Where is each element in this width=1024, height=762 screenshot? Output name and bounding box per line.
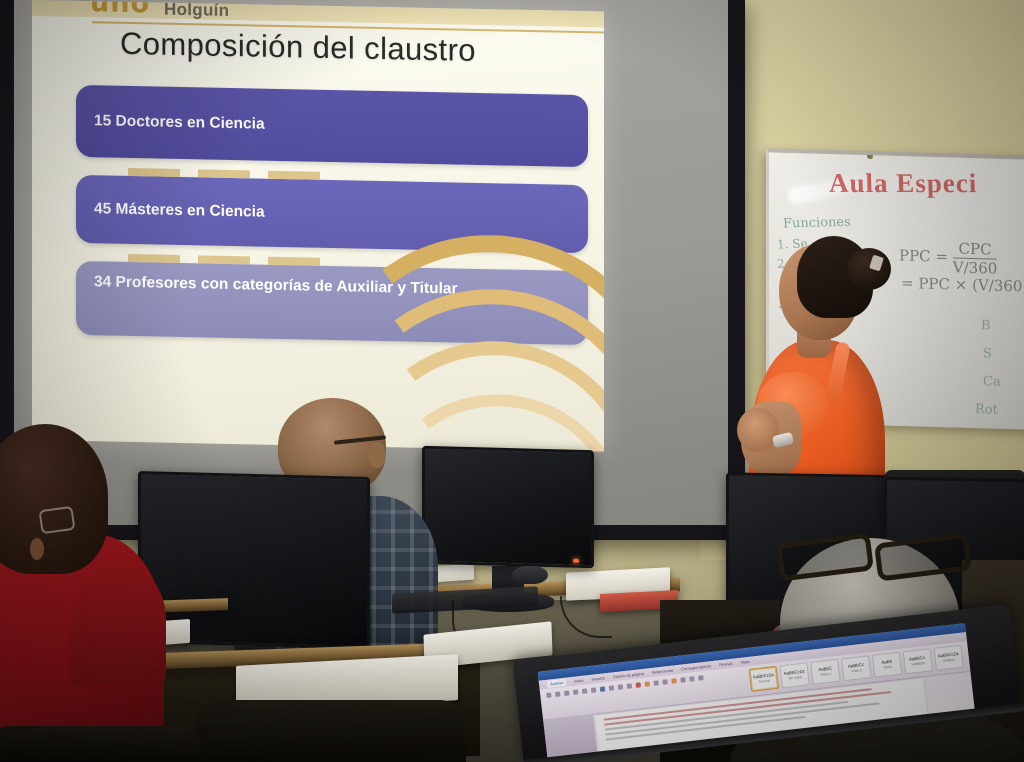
classroom-photo-scene: uho Holguín Composición del claustro 15 … [0,0,1024,762]
slide-bullet-2-text: 45 Másteres en Ciencia [94,200,265,222]
whiteboard-formula-1-numerator: CPC [953,239,998,259]
style-sin-espaciado-name: Sin espa [788,676,802,681]
word-tab-revisar[interactable]: Revisar [719,661,733,668]
monitor-power-led [573,559,579,563]
word-tab-vista[interactable]: Vista [740,659,749,665]
clipboard-icon[interactable] [582,688,588,694]
style-titulo-name: Título [883,665,892,669]
style-enfasis-name: Énfasis [943,658,954,663]
borders-icon[interactable] [680,677,686,683]
paste-icon[interactable] [591,687,597,693]
foreground-dark-mass-2 [0,726,200,762]
style-titulo-1-name: Título 1 [820,672,832,677]
font-color-icon[interactable] [636,682,642,688]
style-normal-name: Normal [759,679,770,684]
style-enfasis[interactable]: AaBbCcDc Énfasis [933,645,963,671]
foreground-dark-mass-1 [196,700,466,762]
font-size-icon[interactable] [573,689,579,695]
woman-red-ear [30,538,44,560]
style-titulo-2-name: Título 2 [851,669,863,674]
word-tab-insertar[interactable]: Insertar [591,675,605,682]
bullet-list-icon[interactable] [627,683,633,689]
presenter-hair-bun [847,248,891,290]
university-logo: uho Holguín [90,0,229,19]
whiteboard-right-item-1: B [981,318,991,333]
woman-red-glasses [38,506,75,534]
slide-bullet-2: 45 Másteres en Ciencia [76,175,588,253]
word-tab-inicio[interactable]: Inicio [574,678,584,684]
style-titulo[interactable]: AaBb Título [872,652,902,678]
presentation-slide: uho Holguín Composición del claustro 15 … [32,0,604,451]
whiteboard-screw [867,153,873,159]
grey-man-glasses [772,538,972,578]
show-marks-icon[interactable] [698,675,704,681]
logo-text: Holguín [164,1,229,19]
font-italic-icon[interactable] [555,691,561,697]
whiteboard-title: Aula Especi [829,168,978,199]
logo-mark: uho [90,0,150,17]
slide-bullet-3: 34 Profesores con categorías de Auxiliar… [76,261,588,345]
style-titulo-1[interactable]: AaBbC Título 1 [810,659,840,685]
red-top-shoulder [70,566,166,686]
whiteboard-right-item-2: S [983,346,992,361]
whiteboard-formula-1-fraction: CPC V/360 [953,239,998,277]
whiteboard-right-item-4: Rot [975,402,998,418]
font-underline-icon[interactable] [564,690,570,696]
indent-icon[interactable] [662,679,668,685]
style-subtitulo[interactable]: AaBbCc. Subtítulo [903,648,933,674]
slide-bullet-1: 15 Doctores en Ciencia [76,85,588,167]
sort-icon[interactable] [689,676,695,682]
font-bold-icon[interactable] [546,692,552,698]
slide-bullet-1-text: 15 Doctores en Ciencia [94,112,265,134]
woman-red-hair [0,424,108,574]
attendee-woman-red [0,424,178,762]
whiteboard-right-item-3: Ca [983,374,1001,389]
highlight-icon[interactable] [644,681,650,687]
line-spacing-icon[interactable] [653,680,659,686]
shading-icon[interactable] [671,678,677,684]
slide-title: Composición del claustro [120,26,476,69]
align-center-icon[interactable] [609,685,615,691]
mouse [512,566,548,584]
style-normal[interactable]: AaBbCcDc Normal [749,666,779,692]
style-titulo-2[interactable]: AaBbCc Título 2 [841,655,871,681]
style-sin-espaciado[interactable]: AaBbCcDc Sin espa [779,662,809,688]
whiteboard-formula-2: = PPC × (V/360) [901,274,1024,296]
style-subtitulo-name: Subtítulo [911,661,925,666]
plaid-man-ear [368,442,386,468]
align-right-icon[interactable] [618,684,624,690]
slide-bullet-3-text: 34 Profesores con categorías de Auxiliar… [94,273,458,299]
presenter-hands [737,408,779,452]
slide-bullet-list: 15 Doctores en Ciencia 45 Másteres en Ci… [76,85,588,345]
align-left-icon[interactable] [600,686,606,692]
